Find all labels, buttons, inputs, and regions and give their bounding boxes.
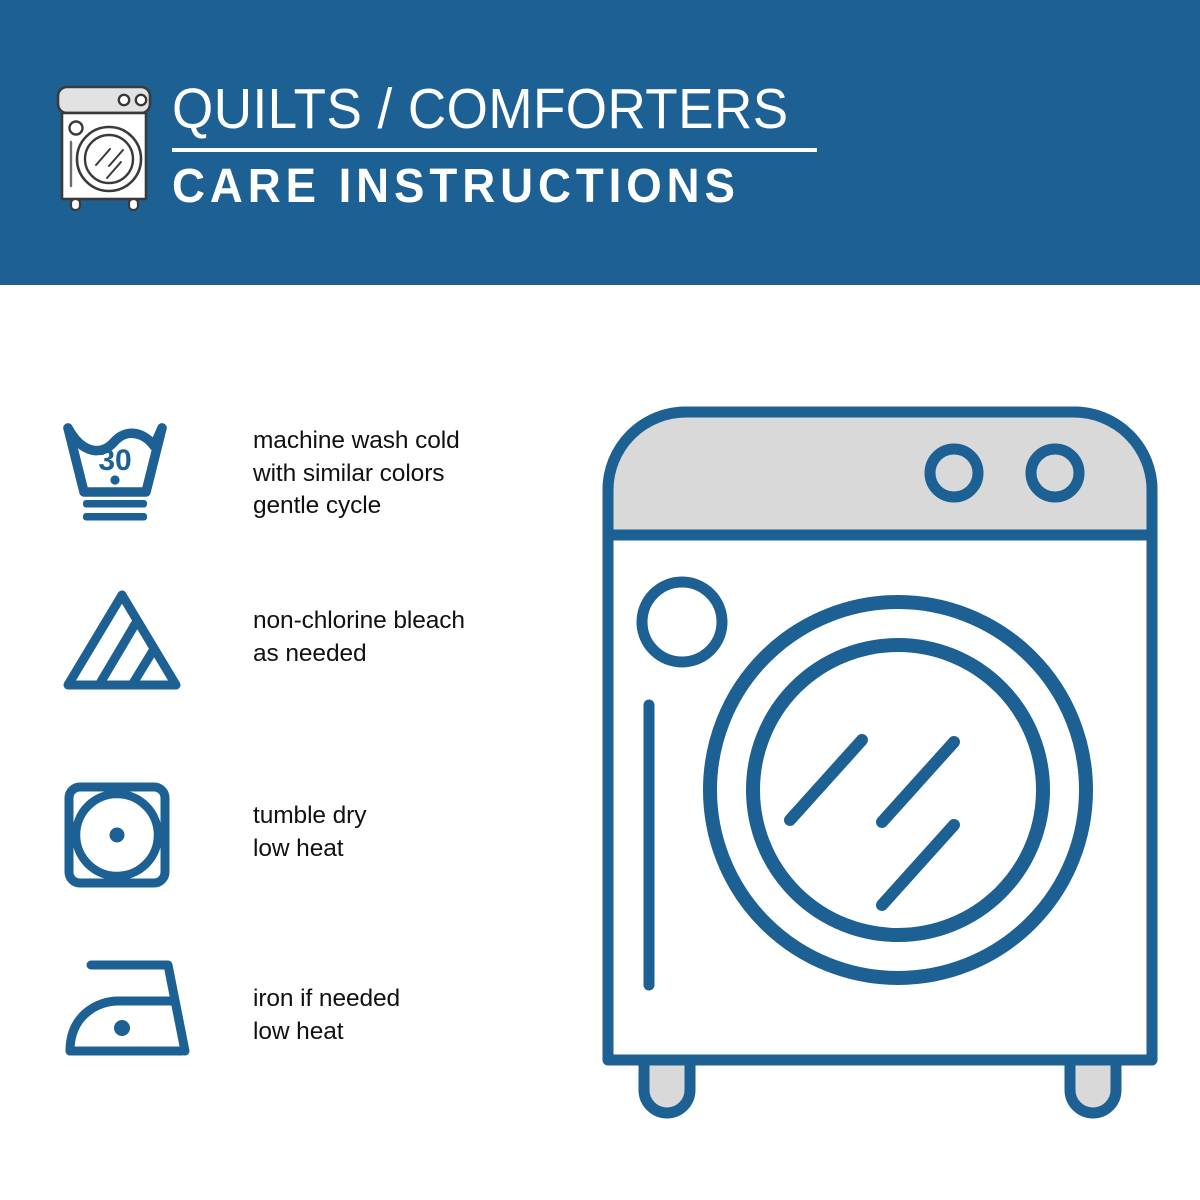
washer-leg (1070, 1060, 1116, 1113)
machine-wash-30-icon: 30 (62, 420, 192, 533)
front-load-washing-machine-illustration (596, 400, 1164, 1130)
washer-knob (930, 449, 978, 497)
care-label-line: non-chlorine bleach (253, 605, 465, 638)
page-subtitle: CARE INSTRUCTIONS (172, 161, 837, 213)
care-instructions-page: QUILTS / COMFORTERS CARE INSTRUCTIONS 30 (0, 0, 1200, 1200)
washing-machine-icon (52, 83, 160, 213)
care-label-line: gentle cycle (253, 490, 460, 523)
care-label-line: low heat (253, 1016, 400, 1049)
title-divider (172, 148, 817, 152)
care-label-line: machine wash cold (253, 425, 460, 458)
tumble-dry-low-icon (62, 780, 177, 895)
washer-knob (1031, 449, 1079, 497)
care-instruction-label: machine wash cold with similar colors ge… (253, 425, 460, 523)
washer-dial (642, 582, 722, 662)
wash-temperature-value: 30 (98, 444, 131, 477)
washer-leg (644, 1060, 690, 1113)
care-instruction-label: iron if needed low heat (253, 983, 400, 1048)
header-title-block: QUILTS / COMFORTERS CARE INSTRUCTIONS (172, 78, 872, 213)
care-label-line: iron if needed (253, 983, 400, 1016)
non-chlorine-bleach-triangle-icon (62, 585, 192, 700)
care-instruction-list: 30 machine wash cold with similar colors… (0, 285, 560, 1200)
iron-low-heat-icon (62, 955, 202, 1065)
care-label-line: low heat (253, 833, 366, 866)
care-label-line: as needed (253, 638, 465, 671)
page-title: QUILTS / COMFORTERS (172, 78, 823, 140)
care-label-line: with similar colors (253, 458, 460, 491)
care-label-line: tumble dry (253, 800, 366, 833)
care-instruction-label: non-chlorine bleach as needed (253, 605, 465, 670)
page-header: QUILTS / COMFORTERS CARE INSTRUCTIONS (0, 0, 1200, 285)
care-instruction-label: tumble dry low heat (253, 800, 366, 865)
